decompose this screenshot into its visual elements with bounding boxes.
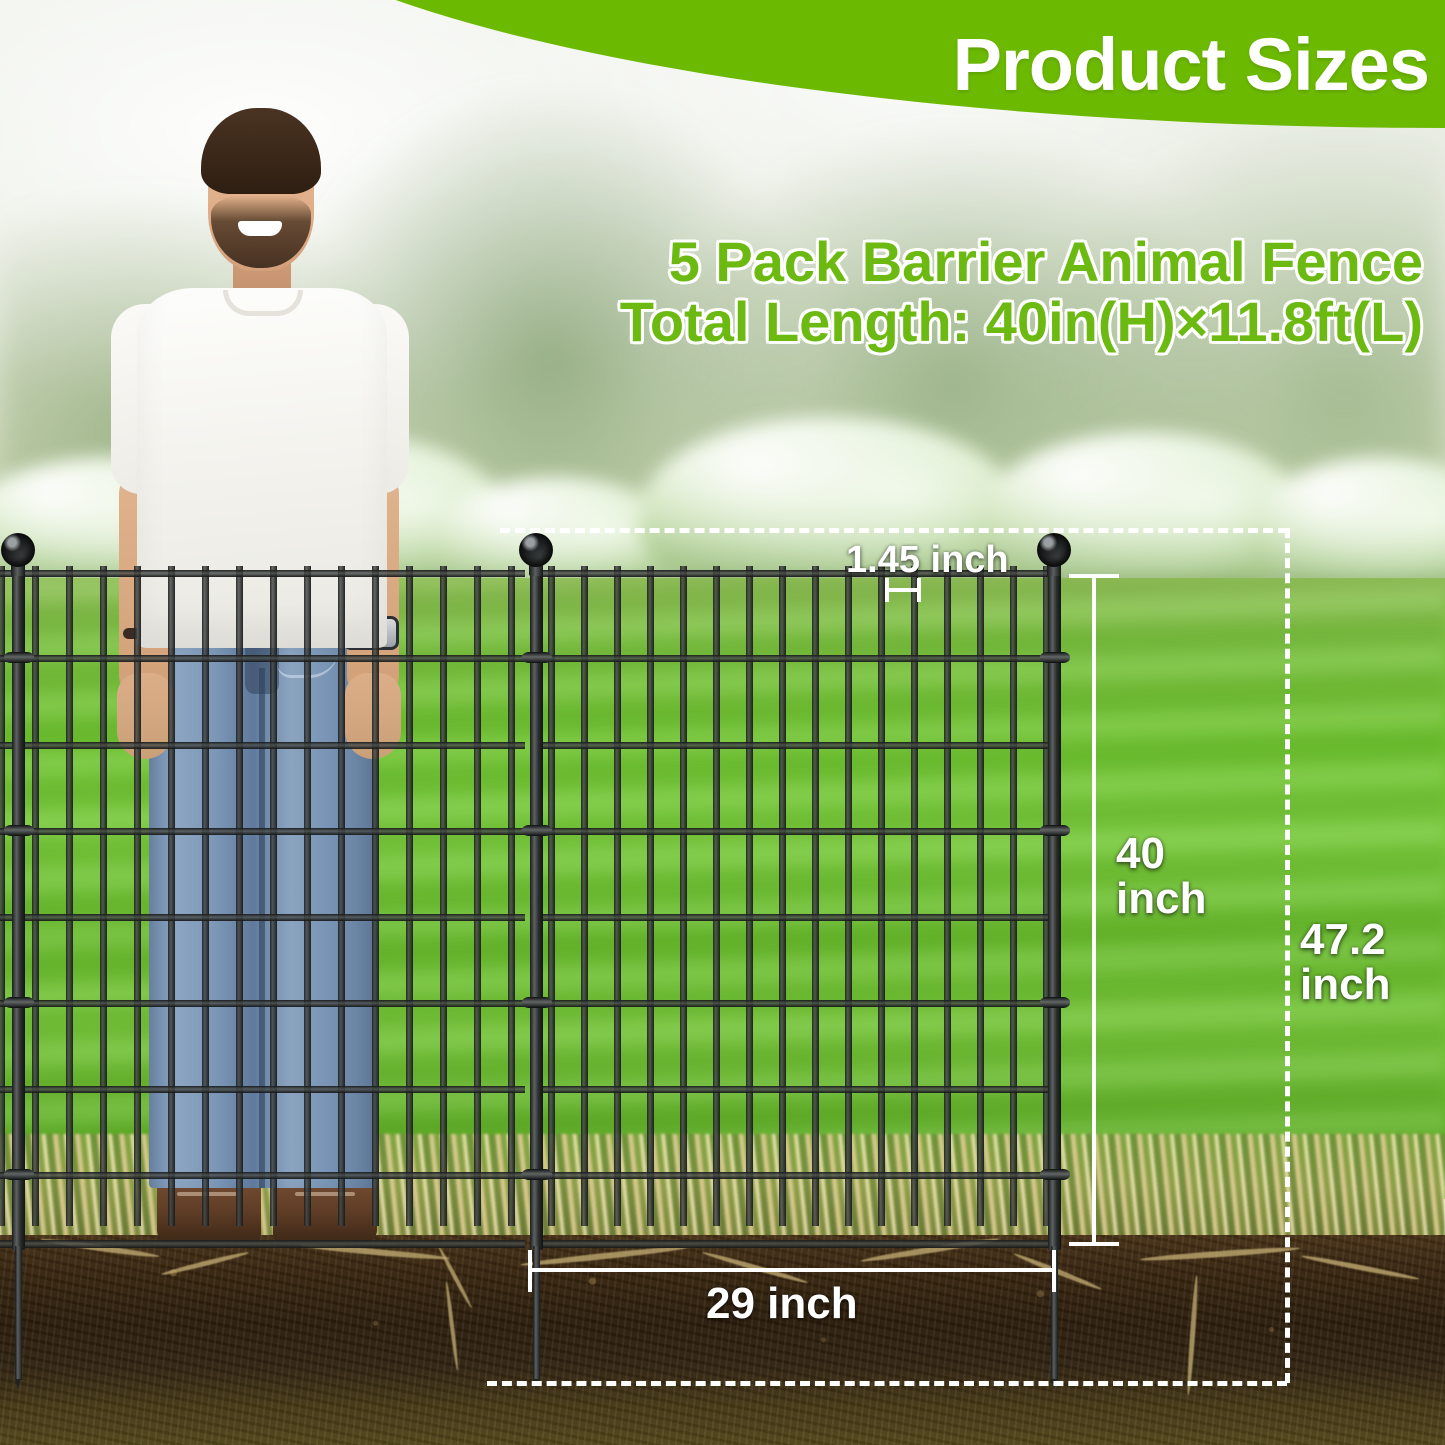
- panel-height-unit: inch: [1116, 877, 1206, 922]
- subtitle-line-2: Total Length: 40in(H)×11.8ft(L): [620, 292, 1423, 352]
- ball-finial-left: [1, 533, 35, 567]
- panel-width-line: [528, 1268, 1056, 1272]
- ball-finial-right: [1037, 533, 1071, 567]
- fence-post-middle: [530, 560, 543, 1250]
- panel-height-value: 40: [1116, 832, 1206, 877]
- top-reference-dashed-line: [500, 528, 1288, 533]
- total-height-label: 47.2 inch: [1300, 918, 1390, 1008]
- subtitle-line-1: 5 Pack Barrier Animal Fence: [620, 232, 1423, 292]
- fence-post-left: [12, 560, 25, 1250]
- product-subtitle: 5 Pack Barrier Animal Fence Total Length…: [620, 232, 1423, 353]
- fence-post-right: [1048, 560, 1061, 1250]
- panel-height-tick-top: [1069, 574, 1119, 578]
- stake-bottom-dashed-line: [487, 1381, 1287, 1386]
- total-height-dashed-line: [1285, 528, 1290, 1383]
- total-height-value: 47.2: [1300, 918, 1390, 963]
- ground-stake-middle: [533, 1246, 540, 1380]
- panel-height-tick-bottom: [1069, 1242, 1119, 1246]
- panel-width-tick-left: [528, 1250, 532, 1292]
- spacing-bracket-tick-left: [885, 578, 889, 602]
- fence-panels: [0, 0, 1445, 1445]
- spacing-label: 1.45 inch: [846, 541, 1009, 580]
- panel-height-label: 40 inch: [1116, 832, 1206, 922]
- ground-stake-left: [15, 1246, 22, 1380]
- ball-finial-middle: [519, 533, 553, 567]
- panel-width-tick-right: [1052, 1250, 1056, 1292]
- spacing-bracket-line: [885, 588, 921, 592]
- panel-height-line: [1092, 574, 1096, 1246]
- spacing-bracket-tick-right: [917, 578, 921, 602]
- panel-width-label: 29 inch: [706, 1282, 858, 1327]
- total-height-unit: inch: [1300, 963, 1390, 1008]
- product-infographic: 1.45 inch 40 inch 47.2 inch 29 inch 5 Pa…: [0, 0, 1445, 1445]
